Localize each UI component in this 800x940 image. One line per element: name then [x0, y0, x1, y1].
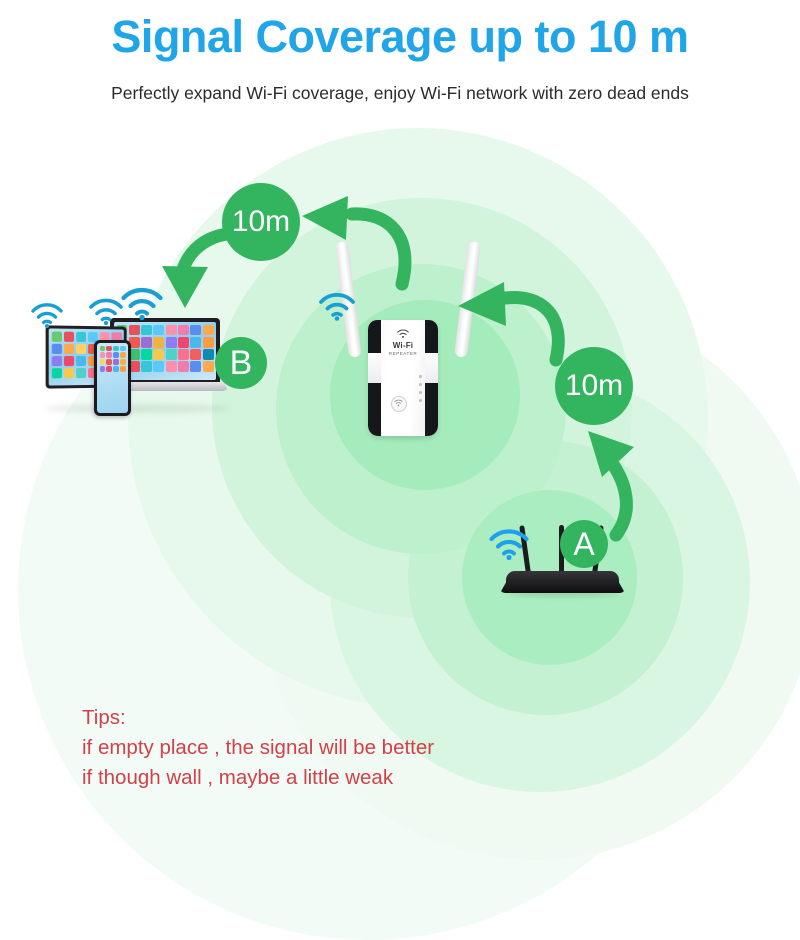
- arrow-to-repeater-upper: [290, 196, 420, 296]
- repeater-wifi-logo-icon: [397, 329, 410, 339]
- wifi-signal-icon: [488, 528, 530, 561]
- arrow-router-to-repeater: [448, 282, 573, 382]
- app-icon: [166, 337, 177, 348]
- led-indicator: [419, 383, 422, 386]
- app-icon: [190, 337, 201, 348]
- app-icon: [100, 346, 105, 351]
- app-icon: [51, 343, 62, 354]
- app-icon: [141, 337, 152, 348]
- app-icon: [166, 361, 177, 372]
- led-indicator: [419, 391, 422, 394]
- smartphone-device: [94, 340, 131, 416]
- app-icon: [113, 346, 118, 351]
- app-icon: [76, 331, 87, 342]
- app-icon: [166, 349, 177, 360]
- app-icon: [64, 343, 75, 354]
- client-devices-group: [38, 318, 238, 418]
- app-icon: [190, 349, 201, 360]
- app-icon: [113, 352, 118, 357]
- repeater-led-indicators: [419, 375, 422, 402]
- tips-line-2: if though wall , maybe a little weak: [82, 763, 434, 793]
- app-icon: [203, 361, 214, 372]
- app-icon: [113, 366, 118, 371]
- app-icon: [153, 349, 164, 360]
- app-icon: [76, 356, 87, 367]
- page-title: Signal Coverage up to 10 m: [0, 12, 800, 62]
- repeater-label-secondary: REPEATER: [368, 351, 438, 356]
- wifi-signal-icon: [88, 298, 124, 326]
- app-icon: [100, 366, 105, 371]
- app-icon: [106, 359, 111, 364]
- badge-point-b: B: [215, 337, 267, 389]
- app-icon: [100, 352, 105, 357]
- app-icon: [51, 331, 62, 342]
- app-icon: [141, 325, 152, 336]
- tips-line-1: if empty place , the signal will be bett…: [82, 733, 434, 763]
- app-icon: [106, 366, 111, 371]
- app-icon: [178, 349, 189, 360]
- tips-block: Tips: if empty place , the signal will b…: [82, 703, 434, 793]
- app-icon: [153, 361, 164, 372]
- app-icon: [113, 359, 118, 364]
- badge-distance-top: 10m: [222, 183, 300, 261]
- app-icon: [178, 337, 189, 348]
- app-icon: [106, 346, 111, 351]
- app-icon: [106, 352, 111, 357]
- app-icon: [51, 368, 62, 379]
- repeater-antenna-mount-left: [368, 353, 381, 383]
- wps-button-icon: [394, 399, 403, 407]
- app-icon: [76, 368, 87, 379]
- app-icon: [76, 344, 87, 355]
- tips-heading: Tips:: [82, 703, 434, 733]
- smartphone-screen: [97, 343, 128, 413]
- app-icon: [120, 359, 125, 364]
- page-subtitle: Perfectly expand Wi-Fi coverage, enjoy W…: [0, 83, 800, 104]
- app-icon: [203, 349, 214, 360]
- wifi-signal-icon: [120, 287, 164, 321]
- infographic-canvas: Signal Coverage up to 10 m Perfectly exp…: [0, 0, 800, 800]
- led-indicator: [419, 399, 422, 402]
- app-icon: [120, 366, 125, 371]
- wifi-signal-icon: [30, 302, 64, 328]
- app-icon: [120, 352, 125, 357]
- wifi-signal-icon: [318, 292, 356, 322]
- repeater-label-primary: Wi-Fi: [368, 341, 438, 350]
- app-icon: [64, 368, 75, 379]
- badge-distance-right: 10m: [555, 347, 633, 425]
- app-icon: [141, 349, 152, 360]
- app-icon: [51, 356, 62, 367]
- badge-point-a: A: [560, 520, 608, 568]
- repeater-antenna-mount-right: [425, 353, 438, 383]
- app-icon: [64, 331, 75, 342]
- app-icon: [153, 337, 164, 348]
- repeater-body: Wi-Fi REPEATER: [368, 320, 438, 436]
- app-icon: [141, 361, 152, 372]
- app-icon: [190, 361, 201, 372]
- header: Signal Coverage up to 10 m Perfectly exp…: [0, 0, 800, 120]
- app-icon: [203, 337, 214, 348]
- app-icon: [64, 356, 75, 367]
- led-indicator: [419, 375, 422, 378]
- devices-shadow: [44, 404, 230, 413]
- app-icon: [129, 325, 140, 336]
- app-icon: [100, 359, 105, 364]
- app-icon: [120, 346, 125, 351]
- router-base: [500, 582, 625, 593]
- app-icon: [178, 361, 189, 372]
